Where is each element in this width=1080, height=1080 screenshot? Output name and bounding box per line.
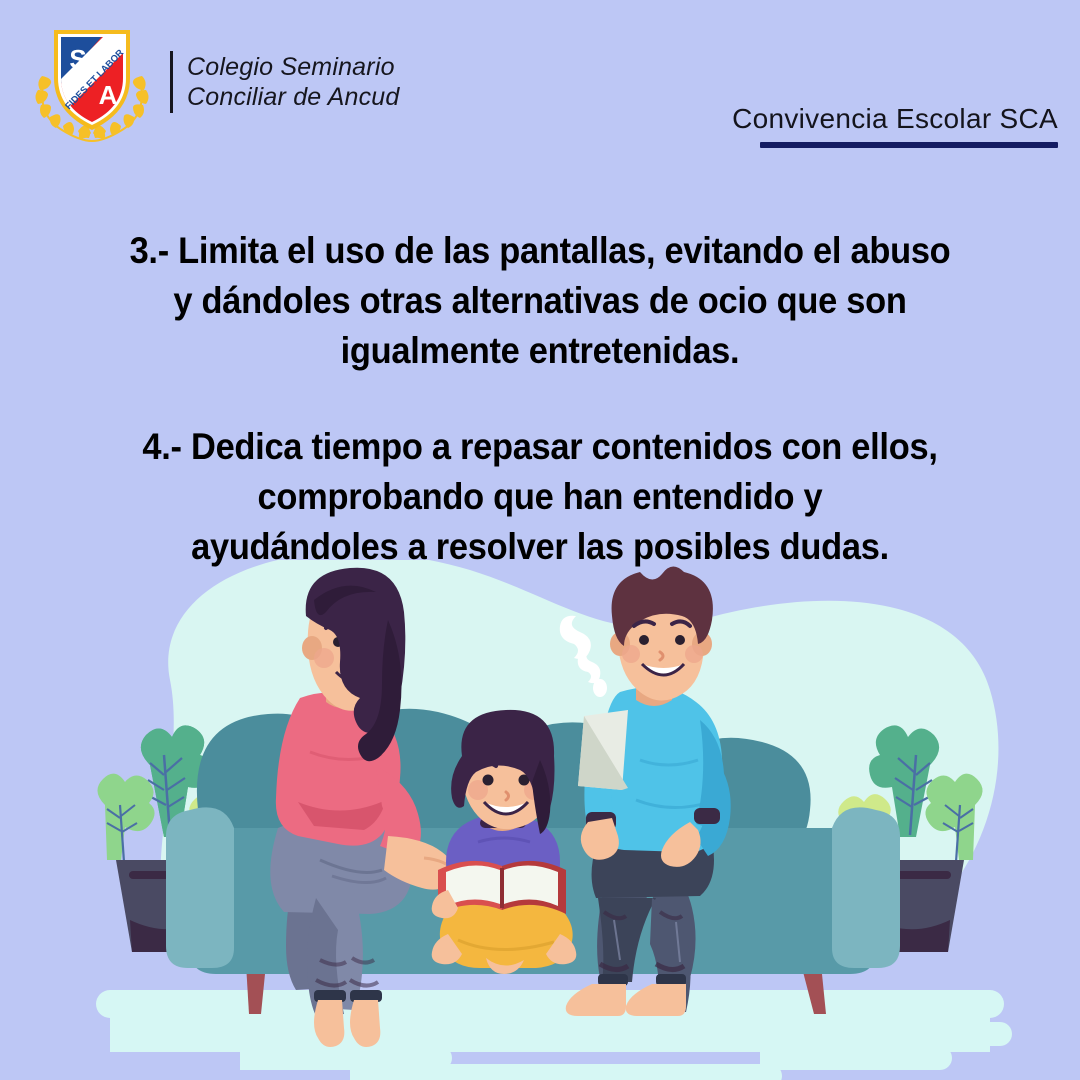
- advice-item-4: 4.- Dedica tiempo a repasar contenidos c…: [38, 422, 1042, 572]
- department-label-block: Convivencia Escolar SCA: [732, 103, 1058, 148]
- advice-item-3: 3.- Limita el uso de las pantallas, evit…: [38, 226, 1042, 376]
- school-logo: S A FIDES ET LABOR Colegio Seminario Con…: [22, 18, 400, 146]
- header: S A FIDES ET LABOR Colegio Seminario Con…: [0, 0, 1080, 175]
- advice-copy: 3.- Limita el uso de las pantallas, evit…: [0, 226, 1080, 572]
- school-name: Colegio Seminario Conciliar de Ancud: [187, 52, 400, 112]
- advice-item-3-line-3: igualmente entretenidas.: [38, 326, 1042, 376]
- school-name-line-2: Conciliar de Ancud: [187, 82, 400, 112]
- department-underline: [760, 142, 1058, 148]
- family-illustration: [0, 560, 1080, 1080]
- crest-icon: S A FIDES ET LABOR: [22, 18, 162, 146]
- coffee-mug: [578, 710, 628, 790]
- advice-item-4-line-2: comprobando que han entendido y: [38, 472, 1042, 522]
- department-label: Convivencia Escolar SCA: [732, 103, 1058, 135]
- poster-canvas: S A FIDES ET LABOR Colegio Seminario Con…: [0, 0, 1080, 1080]
- advice-item-3-line-2: y dándoles otras alternativas de ocio qu…: [38, 276, 1042, 326]
- advice-item-3-line-1: 3.- Limita el uso de las pantallas, evit…: [38, 226, 1042, 276]
- logo-divider: [170, 51, 173, 113]
- advice-item-4-line-1: 4.- Dedica tiempo a repasar contenidos c…: [38, 422, 1042, 472]
- crest-letter-s: S: [69, 44, 86, 74]
- crest-letter-a: A: [99, 80, 118, 110]
- open-book: [438, 861, 566, 914]
- floor: [0, 990, 1080, 1080]
- school-name-line-1: Colegio Seminario: [187, 52, 400, 82]
